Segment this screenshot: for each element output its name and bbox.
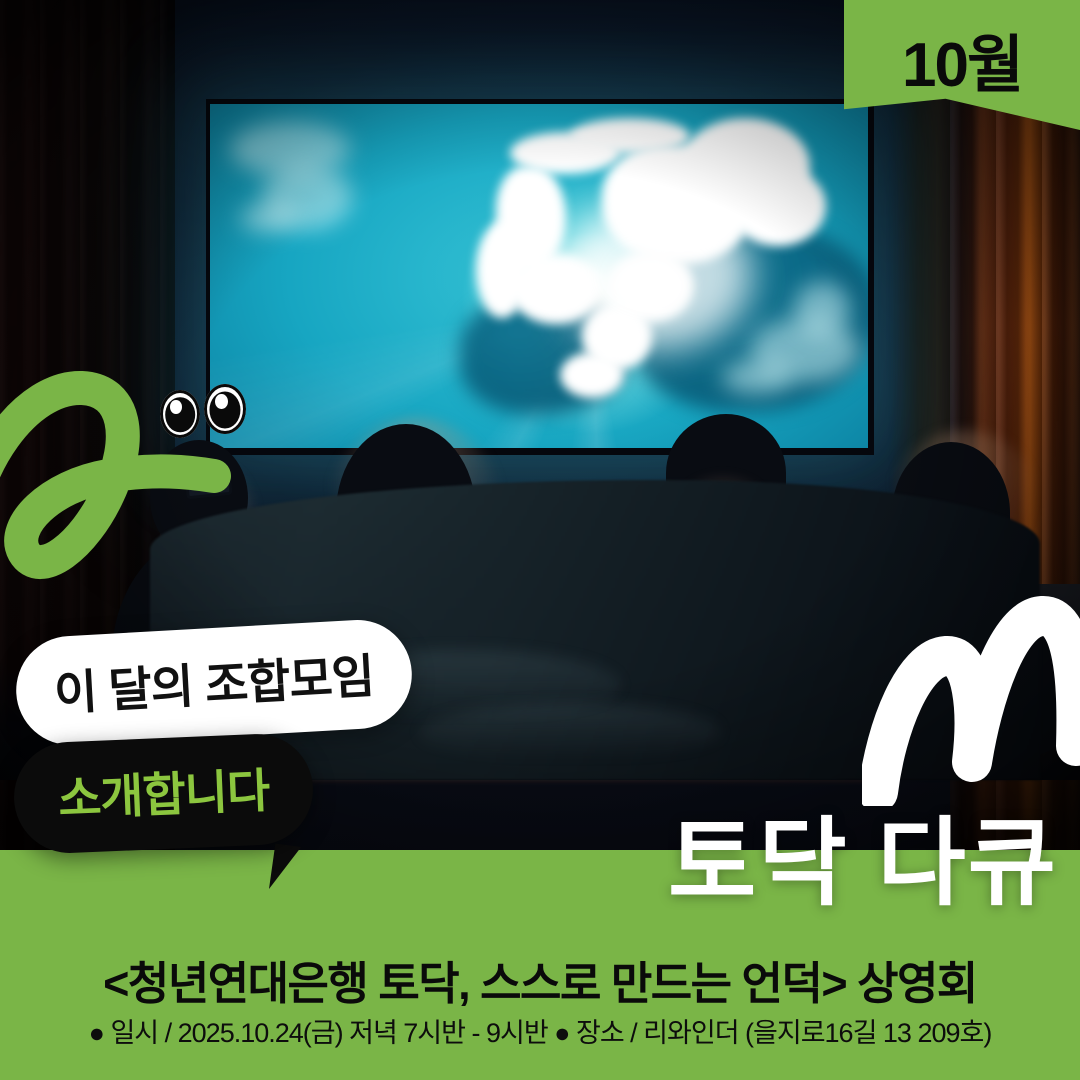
band-text-group: <청년연대은행 토닥, 스스로 만드는 언덕> 상영회 ● 일시 / 2025.… xyxy=(0,930,1080,1080)
cloud-far-left-low xyxy=(240,204,296,232)
white-m-squiggle xyxy=(862,586,1080,806)
bubble-introducing: 소개합니다 xyxy=(12,732,316,855)
bubble-month-meetup: 이 달의 조합모임 xyxy=(13,617,414,748)
event-headline: <청년연대은행 토닥, 스스로 만드는 언덕> 상영회 xyxy=(103,960,977,1007)
event-details: ● 일시 / 2025.10.24(금) 저녁 7시반 - 9시반 ● 장소 /… xyxy=(89,1011,992,1050)
cloud-right-mass xyxy=(730,166,826,246)
bedding-fold-2 xyxy=(420,704,720,760)
googly-eye-left xyxy=(160,390,200,438)
cloud-bottom-center xyxy=(560,352,624,398)
googly-eye-right xyxy=(204,384,246,434)
cloud-far-right-top xyxy=(794,282,850,336)
month-badge-label: 10월 xyxy=(902,14,1022,104)
googly-eye-right-glint xyxy=(215,394,228,409)
bubble-introducing-tail xyxy=(269,843,315,894)
poster-root: <청년연대은행 토닥, 스스로 만드는 언덕> 상영회 ● 일시 / 2025.… xyxy=(0,0,1080,1080)
bubble-introducing-text: 소개합니다 xyxy=(57,764,270,826)
bubble-month-meetup-text: 이 달의 조합모임 xyxy=(53,649,375,720)
projector-screen xyxy=(210,104,868,448)
documentary-title: 토닥 다큐 xyxy=(668,816,1058,912)
cloud-far-right-low xyxy=(722,360,792,394)
sun-glow-core xyxy=(562,200,752,350)
